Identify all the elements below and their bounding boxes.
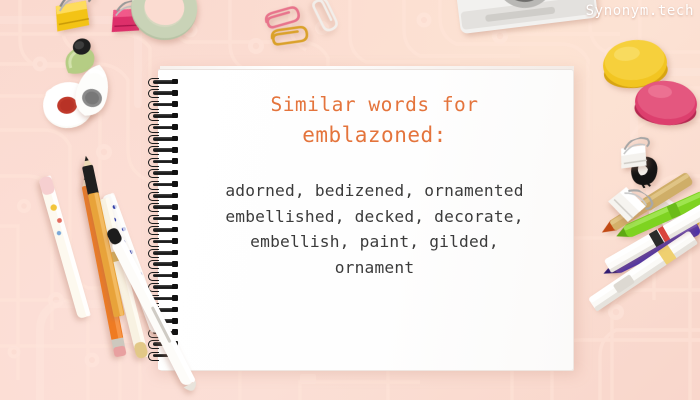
notepad-content: Similar words for emblazoned: adorned, b…	[182, 90, 567, 280]
spiral-coil	[148, 158, 178, 165]
query-word: emblazoned:	[182, 120, 567, 150]
spiral-coil	[148, 78, 178, 85]
spiral-coil	[148, 260, 178, 267]
spiral-coil	[148, 215, 178, 222]
spiral-coil	[148, 146, 178, 153]
spiral-coil	[148, 112, 178, 119]
macaron-pink	[630, 75, 700, 131]
spiral-coil	[148, 181, 178, 188]
heading-prefix: Similar words for	[182, 90, 567, 120]
synonyms-block: adorned, bedizened, ornamentedembellishe…	[182, 178, 567, 280]
spiral-coil	[148, 192, 178, 199]
spiral-coil	[148, 272, 178, 279]
screenshot-canvas: Similar words for emblazoned: adorned, b…	[0, 0, 700, 400]
spiral-coil	[148, 89, 178, 96]
synonyms-line: embellish, paint, gilded,	[198, 229, 551, 255]
spiral-coil	[148, 226, 178, 233]
spiral-coil	[148, 124, 178, 131]
spiral-coil	[148, 169, 178, 176]
synonyms-line: adorned, bedizened, ornamented	[198, 178, 551, 204]
spiral-coil	[148, 203, 178, 210]
synonyms-line: ornament	[198, 255, 551, 281]
spiral-coil	[148, 101, 178, 108]
synonyms-line: embellished, decked, decorate,	[198, 204, 551, 230]
brand-logo: Synonym.tech	[586, 3, 694, 19]
spiral-coil	[148, 135, 178, 142]
spiral-coil	[148, 238, 178, 245]
spiral-coil	[148, 249, 178, 256]
